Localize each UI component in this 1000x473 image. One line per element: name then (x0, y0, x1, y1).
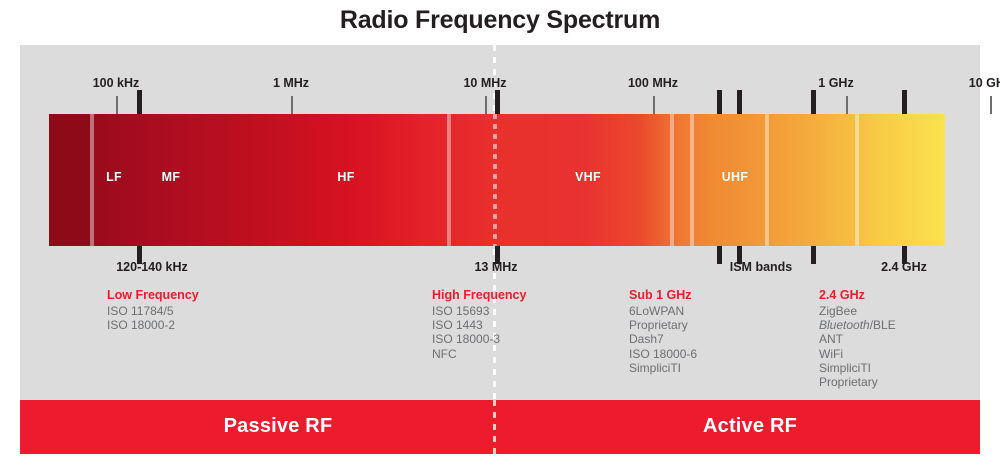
band-divider-3 (690, 114, 694, 246)
scale-label-100-khz: 100 kHz (93, 76, 140, 90)
marker-label-13-mhz: 13 MHz (474, 260, 517, 274)
band-label-mf: MF (162, 170, 181, 184)
band-divider-0 (90, 114, 94, 246)
tech-item: Proprietary (819, 375, 896, 389)
rf-type-banner: Passive RF Active RF (20, 400, 980, 454)
scale-label-1-ghz: 1 GHz (818, 76, 853, 90)
marker-tick-bottom-2 (717, 246, 722, 264)
band-label-uhf: UHF (722, 170, 749, 184)
marker-tick-top-1 (495, 90, 500, 114)
scale-tick-100-mhz (653, 96, 655, 114)
tech-group-title: High Frequency (432, 288, 526, 303)
scale-label-1-mhz: 1 MHz (273, 76, 309, 90)
marker-label-ism-bands: ISM bands (730, 260, 793, 274)
band-divider-4 (765, 114, 769, 246)
tech-item: ZigBee (819, 304, 896, 318)
tech-item: ISO 18000-2 (107, 318, 199, 332)
band-divider-2 (670, 114, 674, 246)
tech-item: ISO 18000-3 (432, 332, 526, 346)
marker-label-2-4-ghz: 2.4 GHz (881, 260, 927, 274)
band-label-hf: HF (337, 170, 354, 184)
marker-tick-top-4 (811, 90, 816, 114)
band-divider-1 (447, 114, 451, 246)
active-rf-label: Active RF (703, 415, 797, 438)
marker-tick-top-0 (137, 90, 142, 114)
tech-group-title: Low Frequency (107, 288, 199, 303)
tech-group-title: Sub 1 GHz (629, 288, 697, 303)
spectrum-gradient (49, 114, 945, 246)
tech-item: ISO 18000-6 (629, 347, 697, 361)
tech-item: SimpliciTI (629, 361, 697, 375)
scale-tick-100-khz (116, 96, 118, 114)
tech-item: Proprietary (629, 318, 697, 332)
scale-tick-10-ghz (990, 96, 992, 114)
tech-item: ANT (819, 332, 896, 346)
marker-tick-top-3 (737, 90, 742, 114)
tech-item: Dash7 (629, 332, 697, 346)
marker-label-120-140-khz: 120-140 kHz (116, 260, 188, 274)
tech-group-sub-1-ghz: Sub 1 GHz6LoWPANProprietaryDash7ISO 1800… (629, 288, 697, 375)
tech-group-high-frequency: High FrequencyISO 15693ISO 1443ISO 18000… (432, 288, 526, 361)
spectrum-passive-active-divider (493, 114, 497, 246)
tech-item: NFC (432, 347, 526, 361)
tech-group-2-4-ghz: 2.4 GHzZigBeeBluetooth/BLEANTWiFiSimplic… (819, 288, 896, 389)
scale-tick-1-ghz (846, 96, 848, 114)
marker-tick-bottom-4 (811, 246, 816, 264)
tech-item: ISO 11784/5 (107, 304, 199, 318)
page-title: Radio Frequency Spectrum (0, 6, 1000, 35)
tech-item: ISO 1443 (432, 318, 526, 332)
scale-label-10-mhz: 10 MHz (463, 76, 506, 90)
tech-item: WiFi (819, 347, 896, 361)
scale-label-10-ghz: 10 GHz (969, 76, 1000, 90)
tech-group-title: 2.4 GHz (819, 288, 896, 303)
scale-label-100-mhz: 100 MHz (628, 76, 678, 90)
band-label-vhf: VHF (575, 170, 601, 184)
scale-tick-1-mhz (291, 96, 293, 114)
tech-item: ISO 15693 (432, 304, 526, 318)
tech-item: 6LoWPAN (629, 304, 697, 318)
tech-item: SimpliciTI (819, 361, 896, 375)
marker-tick-top-5 (902, 90, 907, 114)
spectrum-bar: LFMFHFVHFUHF (49, 114, 945, 246)
tech-item: Bluetooth/BLE (819, 318, 896, 332)
band-divider-5 (855, 114, 859, 246)
tech-group-low-frequency: Low FrequencyISO 11784/5ISO 18000-2 (107, 288, 199, 332)
scale-tick-10-mhz (485, 96, 487, 114)
banner-dotted-divider (493, 400, 496, 454)
marker-tick-top-2 (717, 90, 722, 114)
passive-rf-label: Passive RF (224, 415, 333, 438)
band-label-lf: LF (106, 170, 122, 184)
